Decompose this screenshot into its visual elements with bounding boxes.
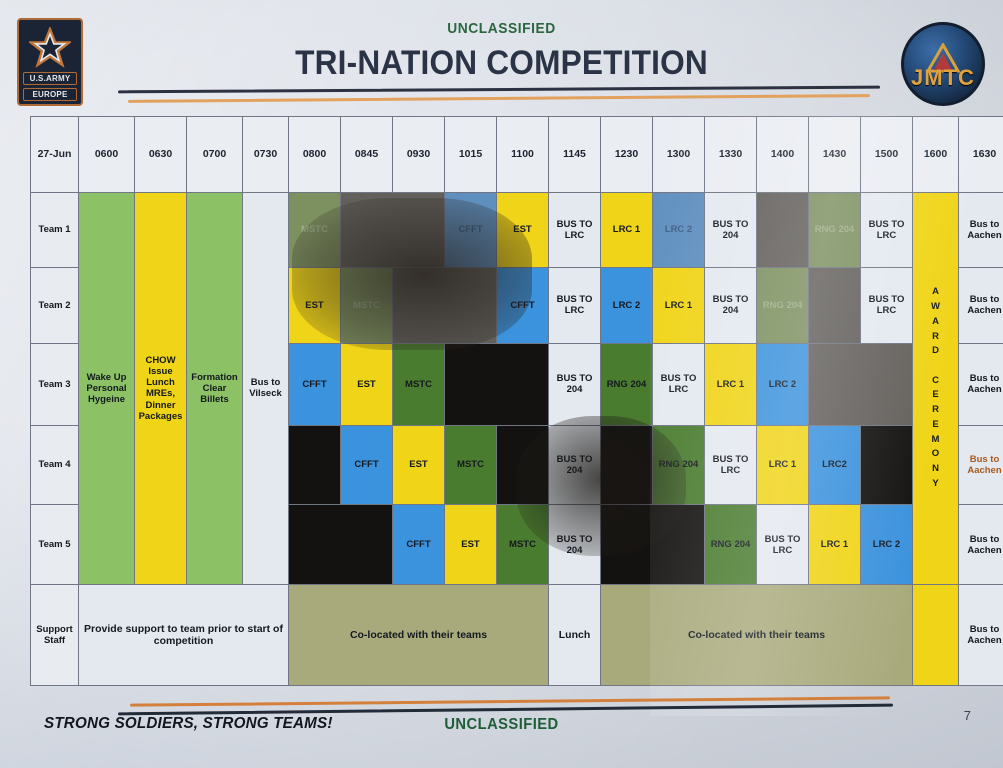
time-header-1230: 1230 (601, 117, 653, 193)
cell-team2-0930[interactable] (393, 268, 497, 344)
cell-team3-1400[interactable]: LRC 2 (757, 343, 809, 425)
cell-team5-1500[interactable]: LRC 2 (861, 505, 913, 585)
cell-team5-1145[interactable]: BUS TO 204 (549, 505, 601, 585)
cell-support-colocated-2[interactable]: Co-located with their teams (601, 585, 913, 686)
cell-team5-1230[interactable] (601, 505, 705, 585)
cell-team2-0800[interactable]: EST (289, 268, 341, 344)
jmtc-label: JMTC (904, 65, 982, 91)
cell-team2-0845[interactable]: MSTC (341, 268, 393, 344)
time-header-0600: 0600 (79, 117, 135, 193)
row-label-support-staff: Support Staff (31, 585, 79, 686)
cell-team4-1230[interactable] (601, 425, 653, 505)
row-label-team-4: Team 4 (31, 425, 79, 505)
jmtc-logo: JMTC (901, 22, 985, 106)
cell-team4-1330[interactable]: BUS TO LRC (705, 425, 757, 505)
time-header-1630: 1630 (959, 117, 1003, 193)
cell-team5-1400[interactable]: BUS TO LRC (757, 505, 809, 585)
time-header-1430: 1430 (809, 117, 861, 193)
cell-team3-1330[interactable]: LRC 1 (705, 343, 757, 425)
schedule-table: 27-Jun 0600 0630 0700 0730 0800 0845 093… (30, 116, 1003, 686)
cell-team2-1430[interactable] (809, 268, 861, 344)
cell-team1-0800[interactable]: MSTC (289, 192, 341, 268)
time-header-1100: 1100 (497, 117, 549, 193)
classification-banner-bottom: UNCLASSIFIED (40, 716, 963, 734)
cell-team1-1300[interactable]: LRC 2 (653, 192, 705, 268)
cell-team3-1300[interactable]: BUS TO LRC (653, 343, 705, 425)
cell-team5-1430[interactable]: LRC 1 (809, 505, 861, 585)
time-header-1145: 1145 (549, 117, 601, 193)
cell-team3-1015[interactable] (445, 343, 549, 425)
cell-team2-1230[interactable]: LRC 2 (601, 268, 653, 344)
cell-team5-1630[interactable]: Bus to Aachen (959, 505, 1003, 585)
cell-team3-0930[interactable]: MSTC (393, 343, 445, 425)
cell-team3-1630[interactable]: Bus to Aachen (959, 343, 1003, 425)
cell-team4-1500[interactable] (861, 425, 913, 505)
award-ceremony-column[interactable]: A W A R D C E R E M O N Y (913, 192, 959, 585)
table-row-support-staff: Support Staff Provide support to team pr… (31, 585, 1003, 686)
cell-team4-1630[interactable]: Bus to Aachen (959, 425, 1003, 505)
cell-team2-1330[interactable]: BUS TO 204 (705, 268, 757, 344)
time-header-1400: 1400 (757, 117, 809, 193)
cell-support-pre-competition[interactable]: Provide support to team prior to start o… (79, 585, 289, 686)
time-header-0930: 0930 (393, 117, 445, 193)
cell-team4-1430[interactable]: LRC2 (809, 425, 861, 505)
block-bus-to-vilseck: Bus to Vilseck (243, 192, 289, 585)
cell-team1-1015[interactable]: CFFT (445, 192, 497, 268)
cell-team1-1330[interactable]: BUS TO 204 (705, 192, 757, 268)
cell-team3-1430[interactable] (809, 343, 913, 425)
cell-team1-1430[interactable]: RNG 204 (809, 192, 861, 268)
row-label-team-2: Team 2 (31, 268, 79, 344)
classification-banner-top: UNCLASSIFIED (40, 20, 963, 37)
time-header-1015: 1015 (445, 117, 497, 193)
header-rule-orange (128, 94, 870, 103)
time-header-1300: 1300 (653, 117, 705, 193)
time-header-0700: 0700 (187, 117, 243, 193)
page-number: 7 (964, 708, 971, 723)
cell-team4-1400[interactable]: LRC 1 (757, 425, 809, 505)
row-label-team-3: Team 3 (31, 343, 79, 425)
table-row-team-1: Team 1 Wake Up Personal Hygeine CHOW Iss… (31, 192, 1003, 268)
cell-team1-1500[interactable]: BUS TO LRC (861, 192, 913, 268)
time-header-0730: 0730 (243, 117, 289, 193)
cell-team4-1145[interactable]: BUS TO 204 (549, 425, 601, 505)
cell-team4-0800[interactable] (289, 425, 341, 505)
cell-support-award[interactable] (913, 585, 959, 686)
army-logo-line2: EUROPE (23, 88, 77, 101)
cell-team5-1015[interactable]: EST (445, 505, 497, 585)
cell-team2-1500[interactable]: BUS TO LRC (861, 268, 913, 344)
cell-team1-0845[interactable] (341, 192, 445, 268)
cell-team2-1145[interactable]: BUS TO LRC (549, 268, 601, 344)
cell-team2-1300[interactable]: LRC 1 (653, 268, 705, 344)
cell-team4-1015[interactable]: MSTC (445, 425, 497, 505)
time-header-1500: 1500 (861, 117, 913, 193)
time-header-0630: 0630 (135, 117, 187, 193)
cell-team5-0930[interactable]: CFFT (393, 505, 445, 585)
cell-team1-1400[interactable] (757, 192, 809, 268)
cell-support-colocated-1[interactable]: Co-located with their teams (289, 585, 549, 686)
cell-team1-1230[interactable]: LRC 1 (601, 192, 653, 268)
cell-team2-1400[interactable]: RNG 204 (757, 268, 809, 344)
cell-team2-1630[interactable]: Bus to Aachen (959, 268, 1003, 344)
block-chow-issue: CHOW Issue Lunch MREs, Dinner Packages (135, 192, 187, 585)
cell-team5-1330[interactable]: RNG 204 (705, 505, 757, 585)
cell-team4-1300[interactable]: RNG 204 (653, 425, 705, 505)
slide-header: U.S.ARMY EUROPE UNCLASSIFIED TRI-NATION … (0, 0, 1003, 112)
row-label-team-5: Team 5 (31, 505, 79, 585)
block-formation: Formation Clear Billets (187, 192, 243, 585)
cell-team3-1230[interactable]: RNG 204 (601, 343, 653, 425)
cell-team4-0930[interactable]: EST (393, 425, 445, 505)
cell-support-bus[interactable]: Bus to Aachen (959, 585, 1003, 686)
time-header-0800: 0800 (289, 117, 341, 193)
cell-team3-1145[interactable]: BUS TO 204 (549, 343, 601, 425)
date-label: 27-Jun (31, 117, 79, 193)
cell-team1-1145[interactable]: BUS TO LRC (549, 192, 601, 268)
cell-team5-0800[interactable] (289, 505, 393, 585)
table-header-row: 27-Jun 0600 0630 0700 0730 0800 0845 093… (31, 117, 1003, 193)
time-header-0845: 0845 (341, 117, 393, 193)
row-label-team-1: Team 1 (31, 192, 79, 268)
award-ceremony-label: A W A R D C E R E M O N Y (914, 285, 957, 491)
cell-team1-1630[interactable]: Bus to Aachen (959, 192, 1003, 268)
time-header-1600: 1600 (913, 117, 959, 193)
schedule-grid: 27-Jun 0600 0630 0700 0730 0800 0845 093… (30, 116, 971, 686)
cell-team4-1100[interactable] (497, 425, 549, 505)
block-wake-up: Wake Up Personal Hygeine (79, 192, 135, 585)
cell-team4-0845[interactable]: CFFT (341, 425, 393, 505)
cell-team3-0800[interactable]: CFFT (289, 343, 341, 425)
page-title: TRI-NATION COMPETITION (35, 44, 968, 83)
cell-team3-0845[interactable]: EST (341, 343, 393, 425)
cell-team5-1100[interactable]: MSTC (497, 505, 549, 585)
cell-support-lunch[interactable]: Lunch (549, 585, 601, 686)
time-header-1330: 1330 (705, 117, 757, 193)
cell-team2-1100[interactable]: CFFT (497, 268, 549, 344)
cell-team1-1100[interactable]: EST (497, 192, 549, 268)
header-rule-dark (118, 86, 880, 94)
